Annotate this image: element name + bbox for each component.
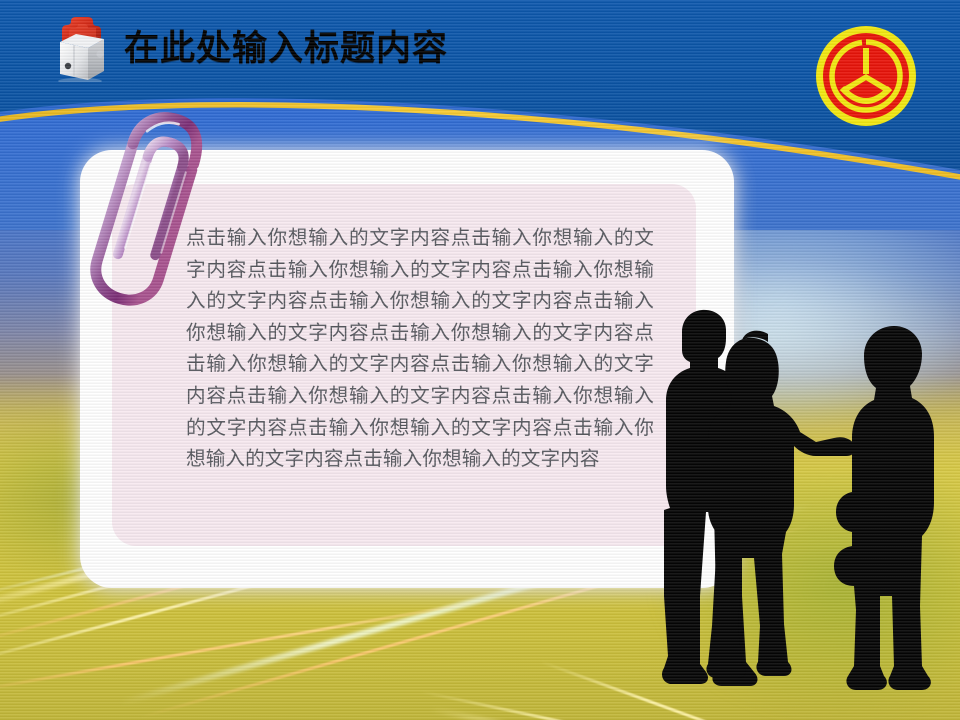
body-text[interactable]: 点击输入你想输入的文字内容点击输入你想输入的文字内容点击输入你想输入的文字内容点… bbox=[186, 222, 654, 475]
title-row: 在此处输入标题内容 bbox=[48, 16, 448, 82]
page-title: 在此处输入标题内容 bbox=[124, 32, 448, 67]
puzzle-cube-icon bbox=[48, 16, 110, 82]
youth-league-emblem bbox=[812, 22, 920, 130]
silhouette-woman-pointing bbox=[706, 331, 855, 678]
silhouette-woman-standing bbox=[834, 326, 934, 690]
business-people-silhouettes bbox=[650, 296, 960, 720]
paperclip-icon bbox=[88, 104, 228, 320]
presentation-slide: 在此处输入标题内容 点击输入你想输入的文字内容点击输入你想输入的文字内容点击输入… bbox=[0, 0, 960, 720]
